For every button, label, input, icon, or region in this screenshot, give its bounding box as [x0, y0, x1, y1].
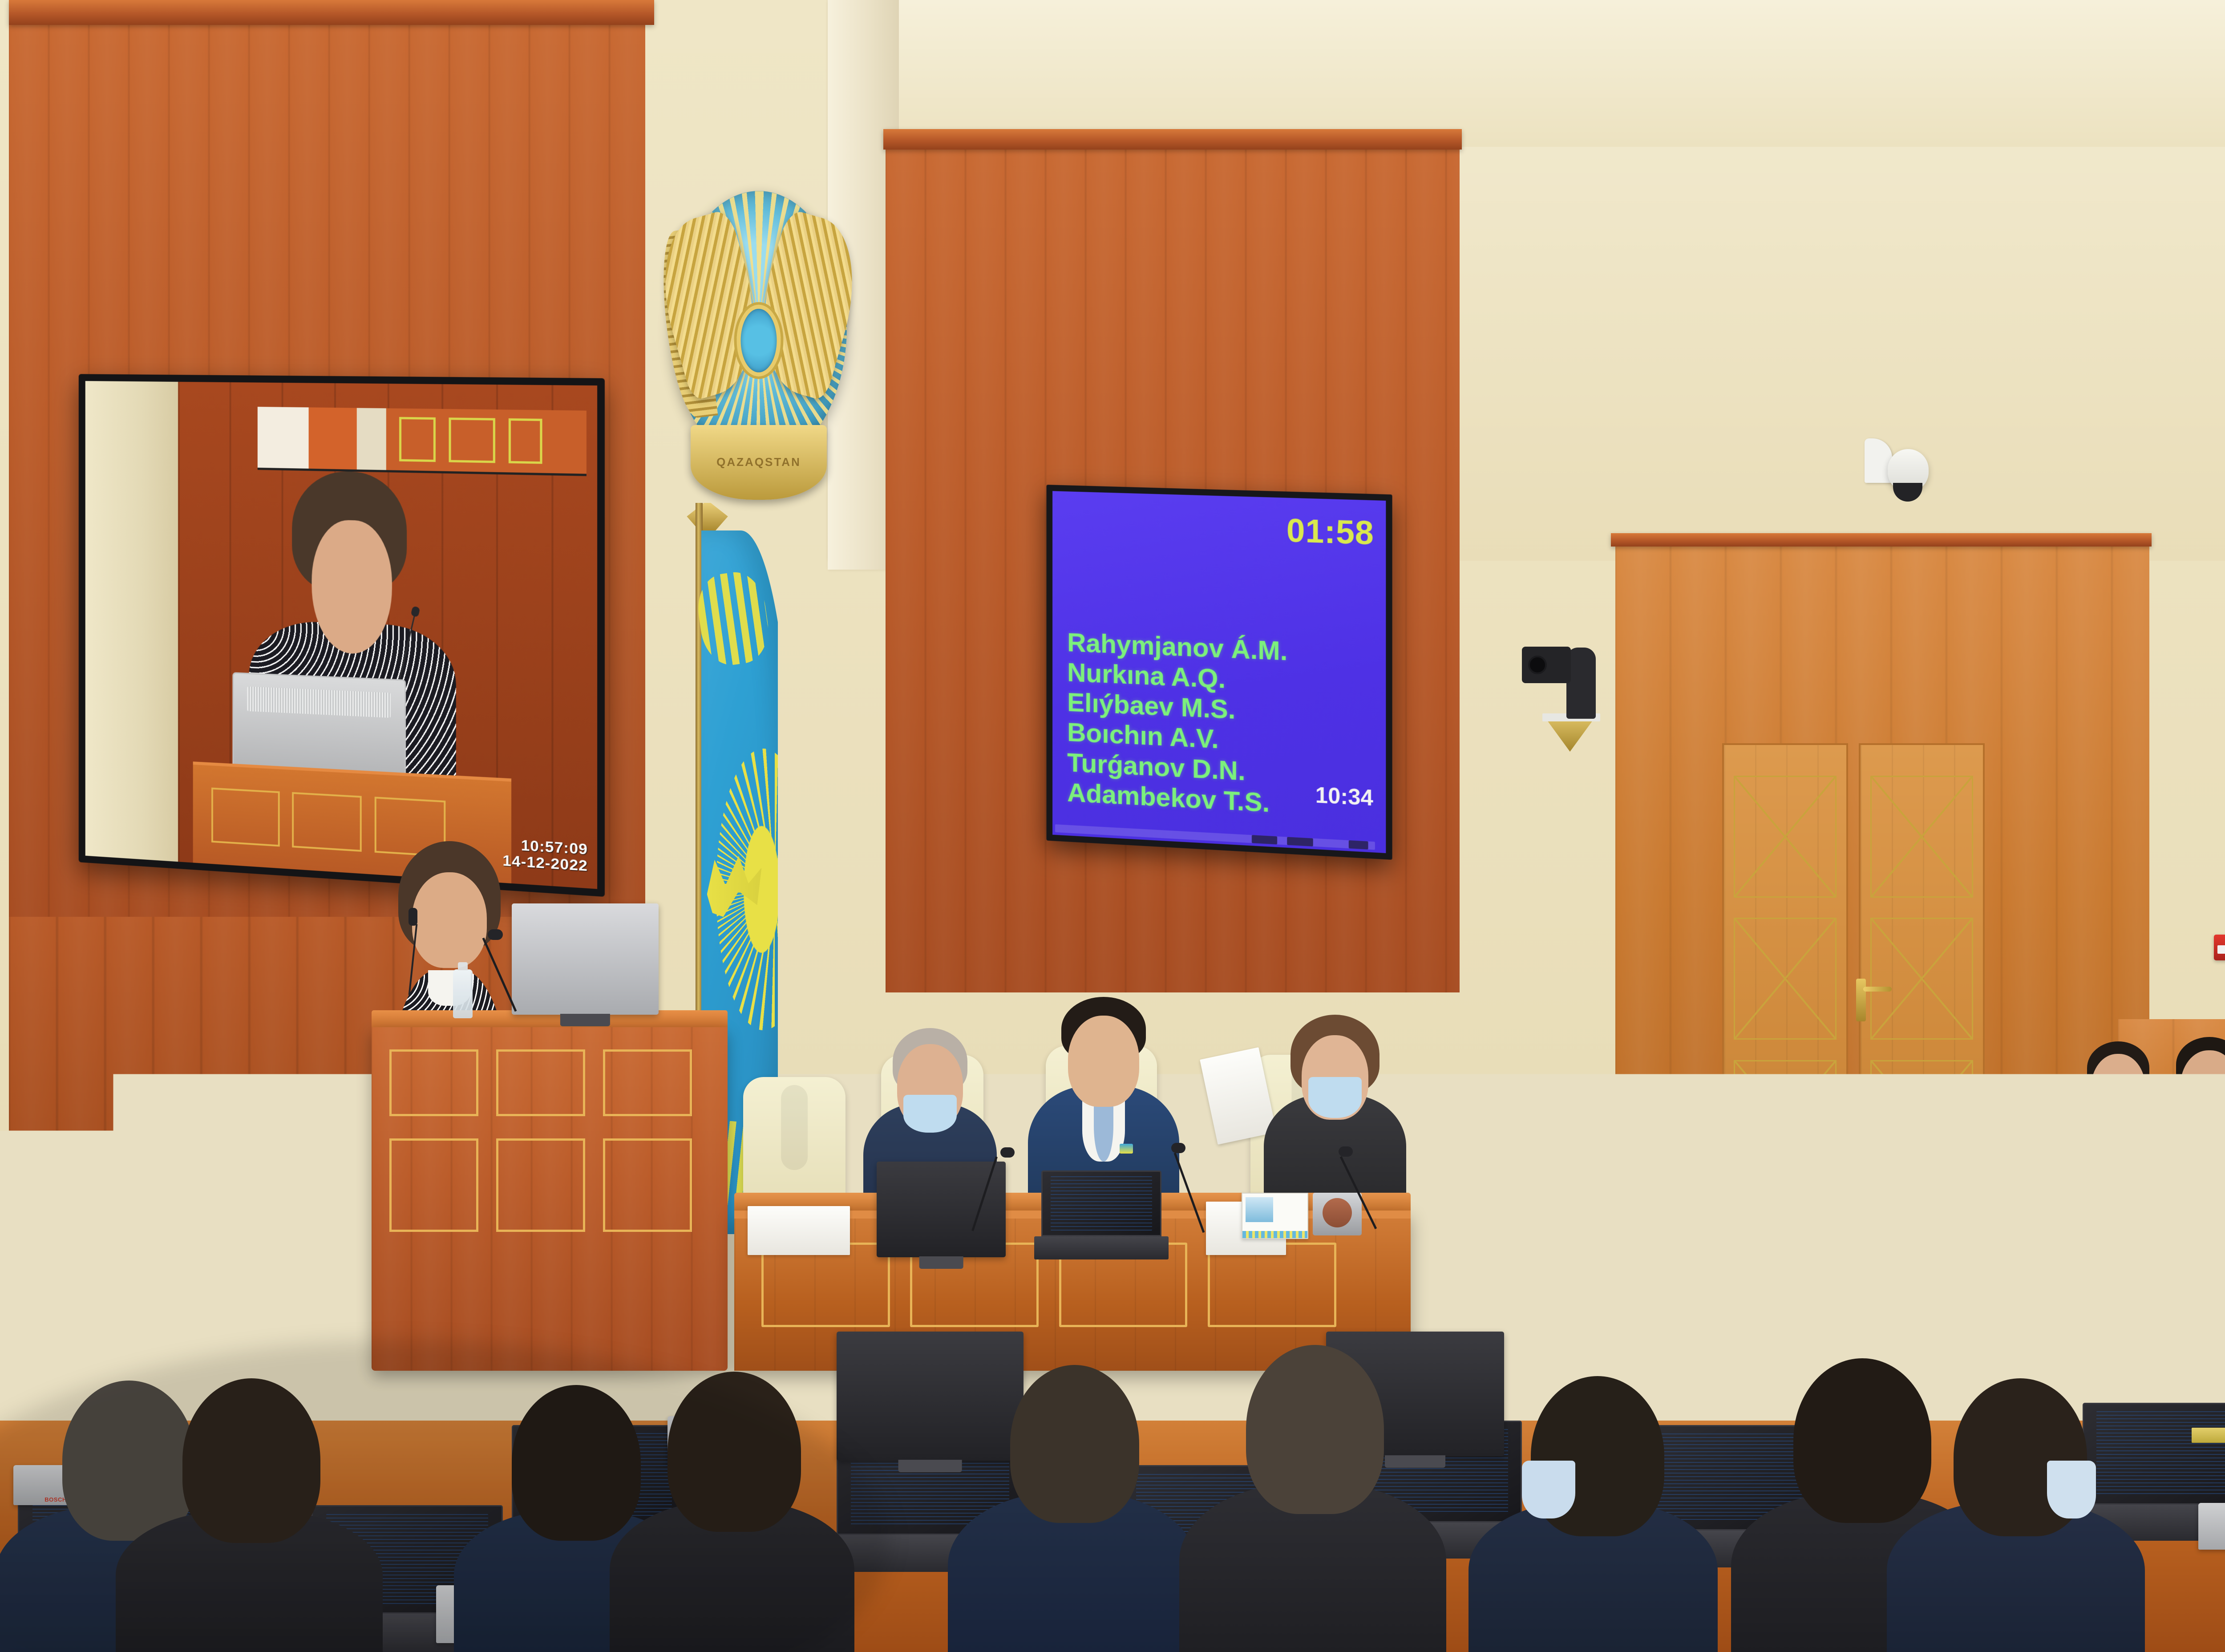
parliament-chamber-photo: 10:57:09 14-12-2022 QAZAQSTAN [0, 0, 2225, 1652]
session-clock: 10:34 [1315, 784, 1373, 809]
tv-bg-wall [85, 381, 183, 862]
rostrum-water-bottle [453, 969, 473, 1018]
emblem-base-plate: QAZAQSTAN [691, 425, 827, 500]
chairman-lapel-pin [1120, 1144, 1133, 1154]
ptz-dome-lens [1893, 483, 1922, 502]
tv-screen-content: 10:57:09 14-12-2022 [85, 381, 597, 889]
presidium-mic-head-2 [1171, 1143, 1185, 1153]
broadcast-camera [1522, 634, 1624, 737]
door-handle[interactable] [1856, 979, 1866, 1021]
door-leaf-right[interactable] [1859, 743, 1985, 1255]
center-panel-cornice [883, 129, 1462, 150]
deputy-6 [1193, 1296, 1433, 1652]
laptop-lid [2043, 1166, 2123, 1215]
right-wall-cornice [1611, 533, 2152, 547]
state-emblem: QAZAQSTAN [659, 178, 859, 503]
deputy-6-head [1246, 1345, 1384, 1514]
bosch-mic-unit-5[interactable]: BOSCH [2198, 1503, 2225, 1550]
speaker-face [412, 872, 487, 968]
door-leaf-left[interactable] [1722, 743, 1848, 1255]
flag-finial [687, 503, 728, 531]
laptop-screen [2049, 1170, 2116, 1211]
bench-row-plaque [2192, 1428, 2225, 1443]
speech-timer: 01:58 [1286, 514, 1374, 550]
deputy-5 [966, 1323, 1179, 1652]
speakers-queue-board: 01:58 Rahymjanov Á.M. Nurkına A.Q. Elıýb… [1046, 485, 1392, 860]
left-panel-cornice [9, 0, 654, 25]
flag-ornament-top [694, 568, 773, 668]
emblem-country-word: QAZAQSTAN [716, 455, 801, 469]
side-official-1-face-mask [2096, 1094, 2140, 1126]
fire-alarm-call-point[interactable] [2214, 935, 2225, 960]
laptop-lid [2127, 1168, 2207, 1218]
chamber-door[interactable] [1722, 743, 1985, 1255]
queue-board-screen: 01:58 Rahymjanov Á.M. Nurkına A.Q. Elıýb… [1052, 491, 1386, 853]
deputy-9-face-mask [2047, 1461, 2096, 1518]
deputy-7 [1482, 1340, 1704, 1652]
rostrum-panel-2 [496, 1049, 585, 1116]
speaker-earpiece [409, 908, 417, 926]
laptop-screen [2134, 1173, 2201, 1213]
ptz-dome-camera [1865, 438, 1940, 514]
rostrum-panel-1 [389, 1049, 478, 1116]
rostrum-panel-3 [603, 1049, 692, 1116]
rostrum-microphone-head [488, 929, 503, 940]
deputy-5-head [1010, 1365, 1139, 1523]
official-left-face-mask [903, 1095, 957, 1133]
ceiling-soffit [899, 0, 2225, 147]
official-right-face-mask [1308, 1077, 1362, 1118]
tv-bg-strip [258, 407, 587, 476]
deputy-7-face-mask [1522, 1461, 1575, 1518]
emblem-shanyrak [737, 305, 781, 377]
rostrum-monitor [512, 903, 659, 1015]
broadcast-feed-monitor: 10:57:09 14-12-2022 [79, 374, 605, 897]
presidium-mic-head-1 [1000, 1147, 1015, 1158]
speaker-queue-list: Rahymjanov Á.M. Nurkına A.Q. Elıýbaev M.… [1067, 628, 1287, 818]
chairman-face [1068, 1016, 1139, 1107]
side-official-2-glasses [2180, 1080, 2225, 1091]
deputy-9 [1900, 1340, 2132, 1652]
camera-lens [1528, 656, 1547, 674]
presidium-mic-head-3 [1339, 1146, 1353, 1157]
